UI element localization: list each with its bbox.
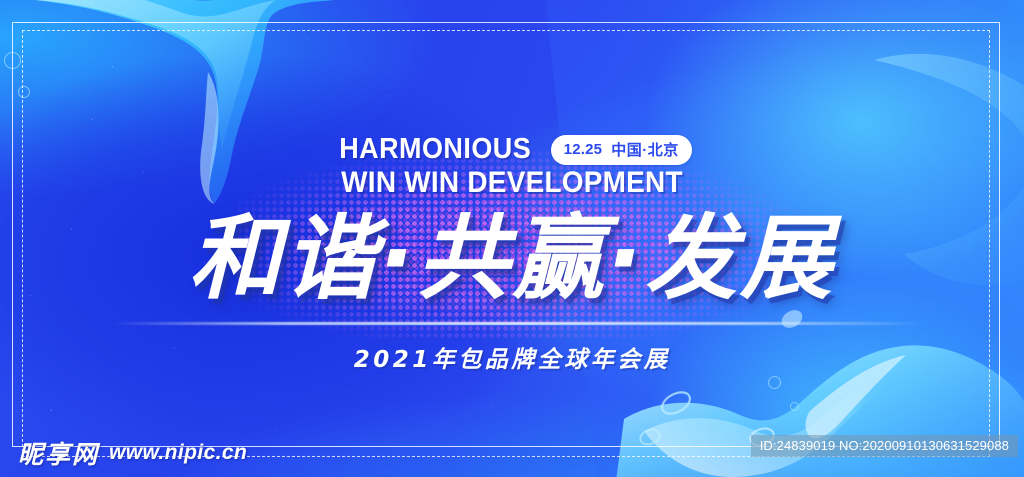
watermark-url: www.nipic.cn [109, 441, 247, 465]
event-badge: 12.25 中国·北京 [551, 135, 692, 165]
headline-english-line2: WIN WIN DEVELOPMENT [36, 166, 988, 200]
eyebrow-row: HARMONIOUS 12.25 中国·北京 [0, 133, 1024, 166]
asset-id-tag: ID:24839019 NO:20200910130631529088 [751, 435, 1018, 457]
page-subtitle: 2021年包品牌全球年会展 [0, 340, 1024, 374]
poster-content: HARMONIOUS 12.25 中国·北京 WIN WIN DEVELOPME… [0, 0, 1024, 477]
watermark-logo: 昵享网 [18, 435, 99, 471]
page-title: 和谐·共赢·发展 [0, 213, 1024, 305]
headline-english-line1: HARMONIOUS [340, 133, 532, 166]
poster-canvas: HARMONIOUS 12.25 中国·北京 WIN WIN DEVELOPME… [0, 0, 1024, 477]
watermark: 昵享网 www.nipic.cn [18, 435, 247, 471]
badge-date: 12.25 [564, 141, 603, 158]
badge-city: 中国·北京 [611, 139, 679, 160]
